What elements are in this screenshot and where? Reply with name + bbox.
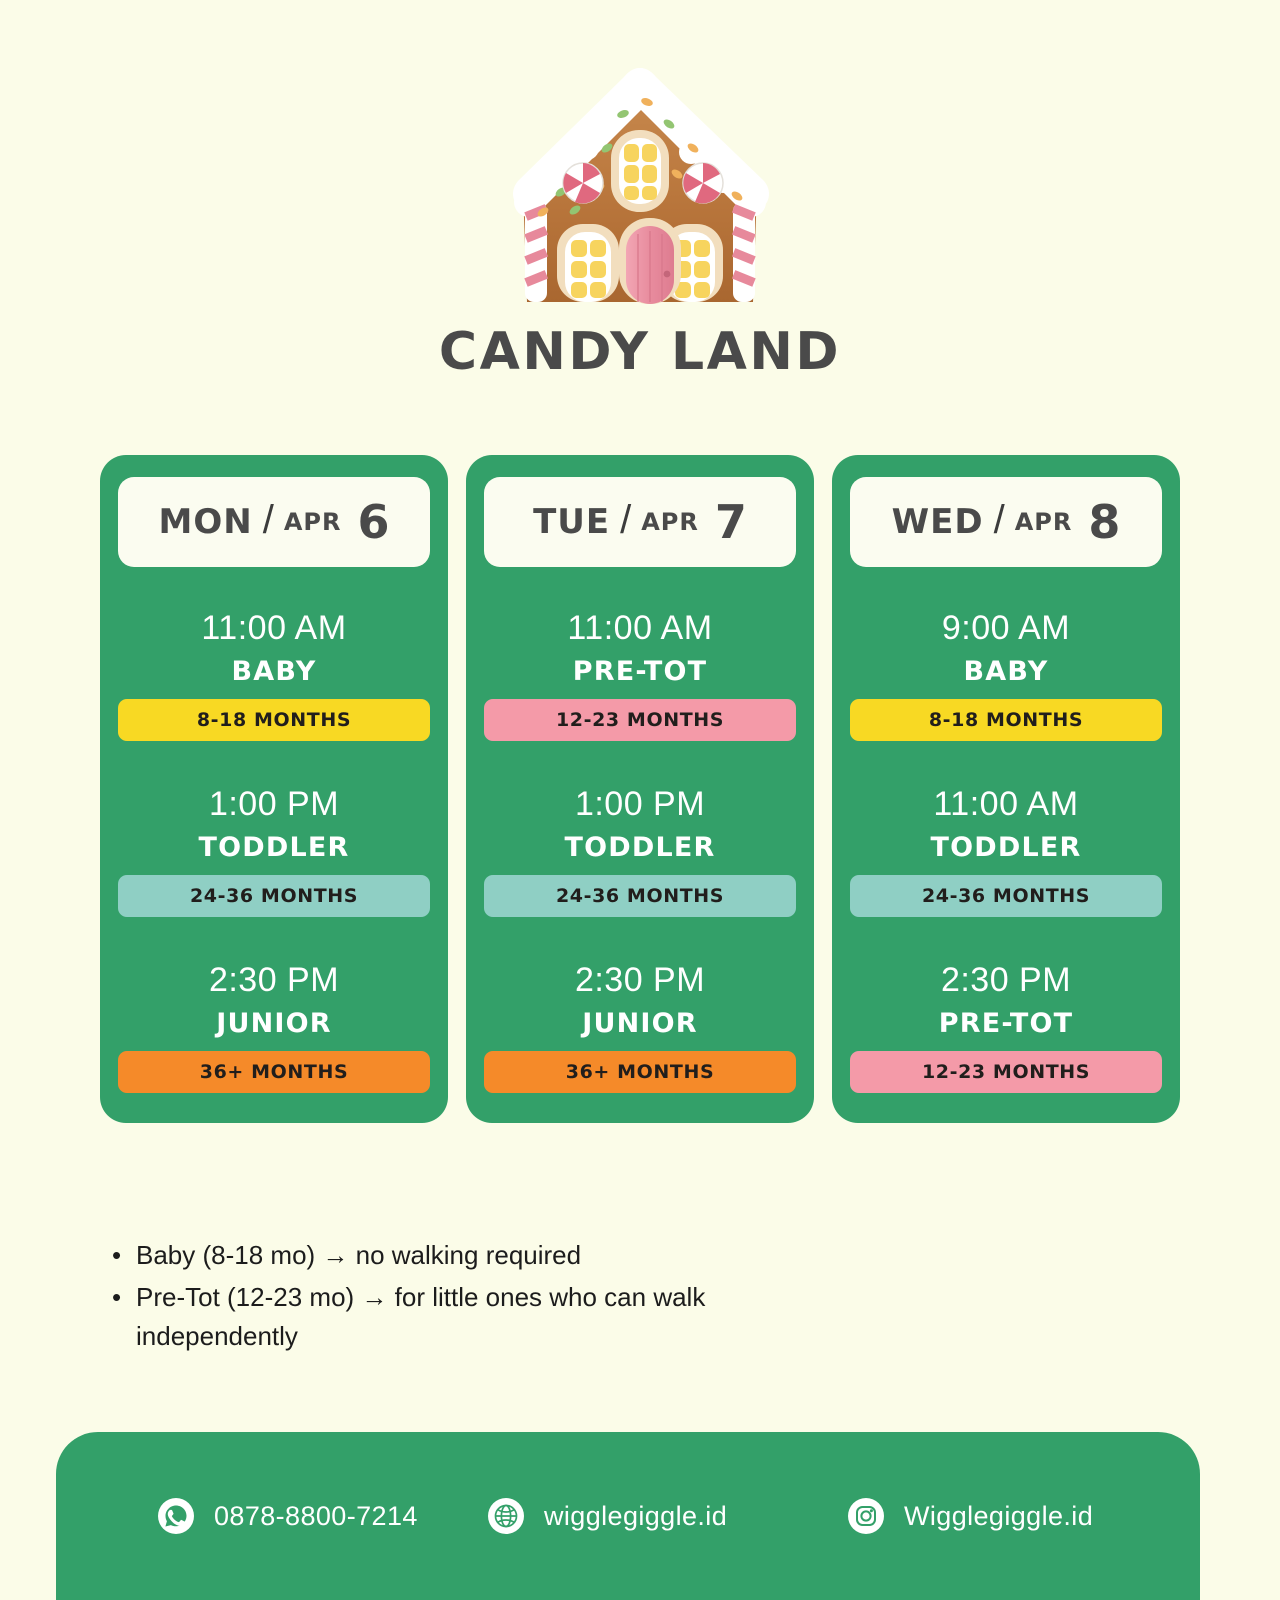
month-label: APR (284, 508, 342, 536)
session-class: BABY (232, 656, 317, 687)
age-badge: 24-36 MONTHS (118, 875, 430, 917)
session-item[interactable]: 2:30 PM JUNIOR 36+ MONTHS (118, 961, 430, 1093)
schedule-grid: MON / APR 6 11:00 AM BABY 8-18 MONTHS 1:… (100, 455, 1180, 1123)
session-class: PRE-TOT (939, 1008, 1073, 1039)
contact-website[interactable]: wigglegiggle.id (486, 1496, 846, 1536)
month-label: APR (641, 508, 699, 536)
contact-instagram[interactable]: Wigglegiggle.id (846, 1496, 1093, 1536)
age-badge: 24-36 MONTHS (484, 875, 796, 917)
age-badge: 36+ MONTHS (118, 1051, 430, 1093)
separator: / (994, 498, 1005, 543)
session-item[interactable]: 9:00 AM BABY 8-18 MONTHS (850, 609, 1162, 741)
hero-section: CANDY LAND (0, 0, 1280, 382)
session-class: TODDLER (930, 832, 1081, 863)
session-item[interactable]: 11:00 AM TODDLER 24-36 MONTHS (850, 785, 1162, 917)
bullet-icon: • (112, 1236, 136, 1276)
session-class: PRE-TOT (573, 656, 707, 687)
day-header-tue: TUE / APR 7 (484, 477, 796, 567)
contact-text: wigglegiggle.id (544, 1501, 727, 1532)
month-label: APR (1015, 508, 1073, 536)
age-badge: 12-23 MONTHS (484, 699, 796, 741)
instagram-icon (846, 1496, 886, 1536)
session-time: 1:00 PM (209, 785, 339, 824)
globe-icon (486, 1496, 526, 1536)
session-item[interactable]: 1:00 PM TODDLER 24-36 MONTHS (484, 785, 796, 917)
date-number: 8 (1088, 495, 1120, 549)
session-time: 2:30 PM (209, 961, 339, 1000)
session-time: 11:00 AM (201, 609, 346, 648)
note-item: • Baby (8-18 mo) → no walking required (112, 1236, 872, 1276)
day-abbrev: WED (892, 502, 984, 542)
date-number: 7 (715, 495, 747, 549)
session-time: 9:00 AM (942, 609, 1070, 648)
age-badge: 8-18 MONTHS (118, 699, 430, 741)
session-time: 11:00 AM (933, 785, 1078, 824)
age-badge: 8-18 MONTHS (850, 699, 1162, 741)
contact-whatsapp[interactable]: 0878-8800-7214 (156, 1496, 486, 1536)
age-badge: 12-23 MONTHS (850, 1051, 1162, 1093)
session-class: BABY (964, 656, 1049, 687)
separator: / (263, 498, 274, 543)
whatsapp-icon (156, 1496, 196, 1536)
session-time: 11:00 AM (567, 609, 712, 648)
session-time: 2:30 PM (941, 961, 1071, 1000)
note-text: Pre-Tot (12-23 mo) → for little ones who… (136, 1278, 872, 1357)
session-item[interactable]: 1:00 PM TODDLER 24-36 MONTHS (118, 785, 430, 917)
day-header-mon: MON / APR 6 (118, 477, 430, 567)
day-column-mon: MON / APR 6 11:00 AM BABY 8-18 MONTHS 1:… (100, 455, 448, 1123)
day-column-wed: WED / APR 8 9:00 AM BABY 8-18 MONTHS 11:… (832, 455, 1180, 1123)
session-item[interactable]: 2:30 PM PRE-TOT 12-23 MONTHS (850, 961, 1162, 1093)
gingerbread-house-icon (495, 52, 785, 310)
separator: / (620, 498, 631, 543)
notes-list: • Baby (8-18 mo) → no walking required •… (112, 1236, 872, 1359)
age-badge: 36+ MONTHS (484, 1051, 796, 1093)
session-item[interactable]: 11:00 AM PRE-TOT 12-23 MONTHS (484, 609, 796, 741)
note-item: • Pre-Tot (12-23 mo) → for little ones w… (112, 1278, 872, 1357)
session-time: 1:00 PM (575, 785, 705, 824)
session-time: 2:30 PM (575, 961, 705, 1000)
session-class: TODDLER (564, 832, 715, 863)
note-text: Baby (8-18 mo) → no walking required (136, 1236, 872, 1276)
page-title: CANDY LAND (439, 322, 841, 382)
session-item[interactable]: 2:30 PM JUNIOR 36+ MONTHS (484, 961, 796, 1093)
day-column-tue: TUE / APR 7 11:00 AM PRE-TOT 12-23 MONTH… (466, 455, 814, 1123)
day-abbrev: TUE (533, 502, 610, 542)
session-class: JUNIOR (216, 1008, 332, 1039)
contact-text: 0878-8800-7214 (214, 1501, 418, 1532)
day-abbrev: MON (159, 502, 253, 542)
session-class: TODDLER (198, 832, 349, 863)
session-item[interactable]: 11:00 AM BABY 8-18 MONTHS (118, 609, 430, 741)
date-number: 6 (357, 495, 389, 549)
footer-contact-bar: 0878-8800-7214 wigglegiggle.id (56, 1432, 1200, 1600)
day-header-wed: WED / APR 8 (850, 477, 1162, 567)
contact-text: Wigglegiggle.id (904, 1501, 1093, 1532)
session-class: JUNIOR (582, 1008, 698, 1039)
age-badge: 24-36 MONTHS (850, 875, 1162, 917)
bullet-icon: • (112, 1278, 136, 1318)
